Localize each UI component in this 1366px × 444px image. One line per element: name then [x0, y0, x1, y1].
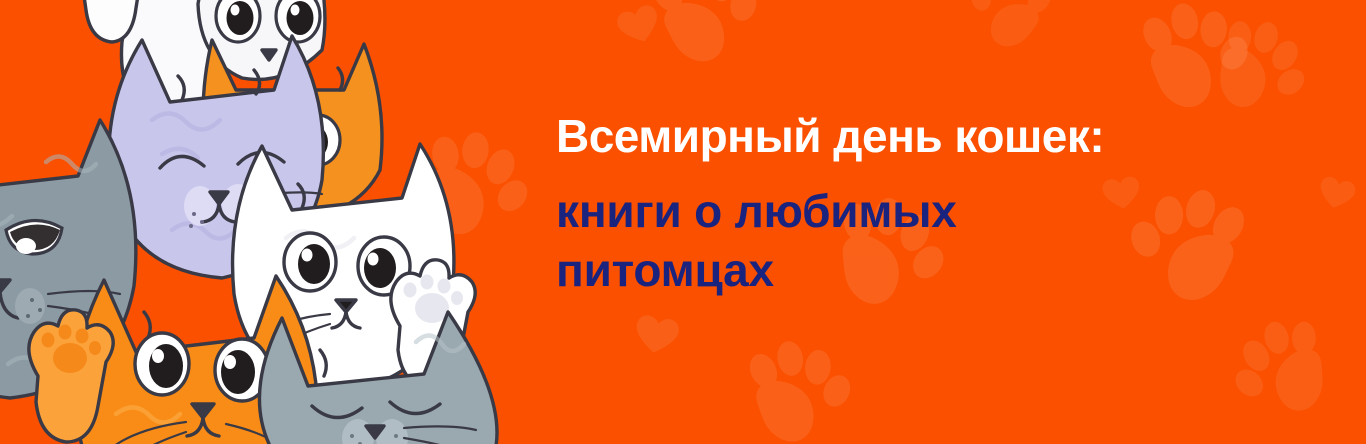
heart-icon: [633, 314, 681, 356]
banner-headline: Всемирный день кошек:: [556, 112, 1316, 162]
heart-icon: [1316, 175, 1357, 212]
paw-print-icon: [1216, 309, 1340, 429]
paw-print-icon: [644, 0, 773, 71]
banner-subline: книги о любимых питомцах: [556, 182, 1116, 302]
heart-icon: [615, 3, 664, 48]
paw-print-icon: [743, 334, 860, 444]
world-cat-day-banner: .ol { fill:none; stroke:#3a3a46; stroke-…: [0, 0, 1366, 444]
paw-print-icon: [1136, 0, 1261, 113]
paw-print-icon: [1202, 8, 1324, 126]
cat-group-illustration: .ol { fill:none; stroke:#3a3a46; stroke-…: [0, 0, 546, 444]
banner-subline-line-2: питомцах: [556, 241, 1116, 301]
paw-print-icon: [954, 0, 1060, 57]
banner-text-block: Всемирный день кошек: книги о любимых пи…: [556, 112, 1316, 301]
banner-subline-line-1: книги о любимых: [556, 182, 1116, 242]
